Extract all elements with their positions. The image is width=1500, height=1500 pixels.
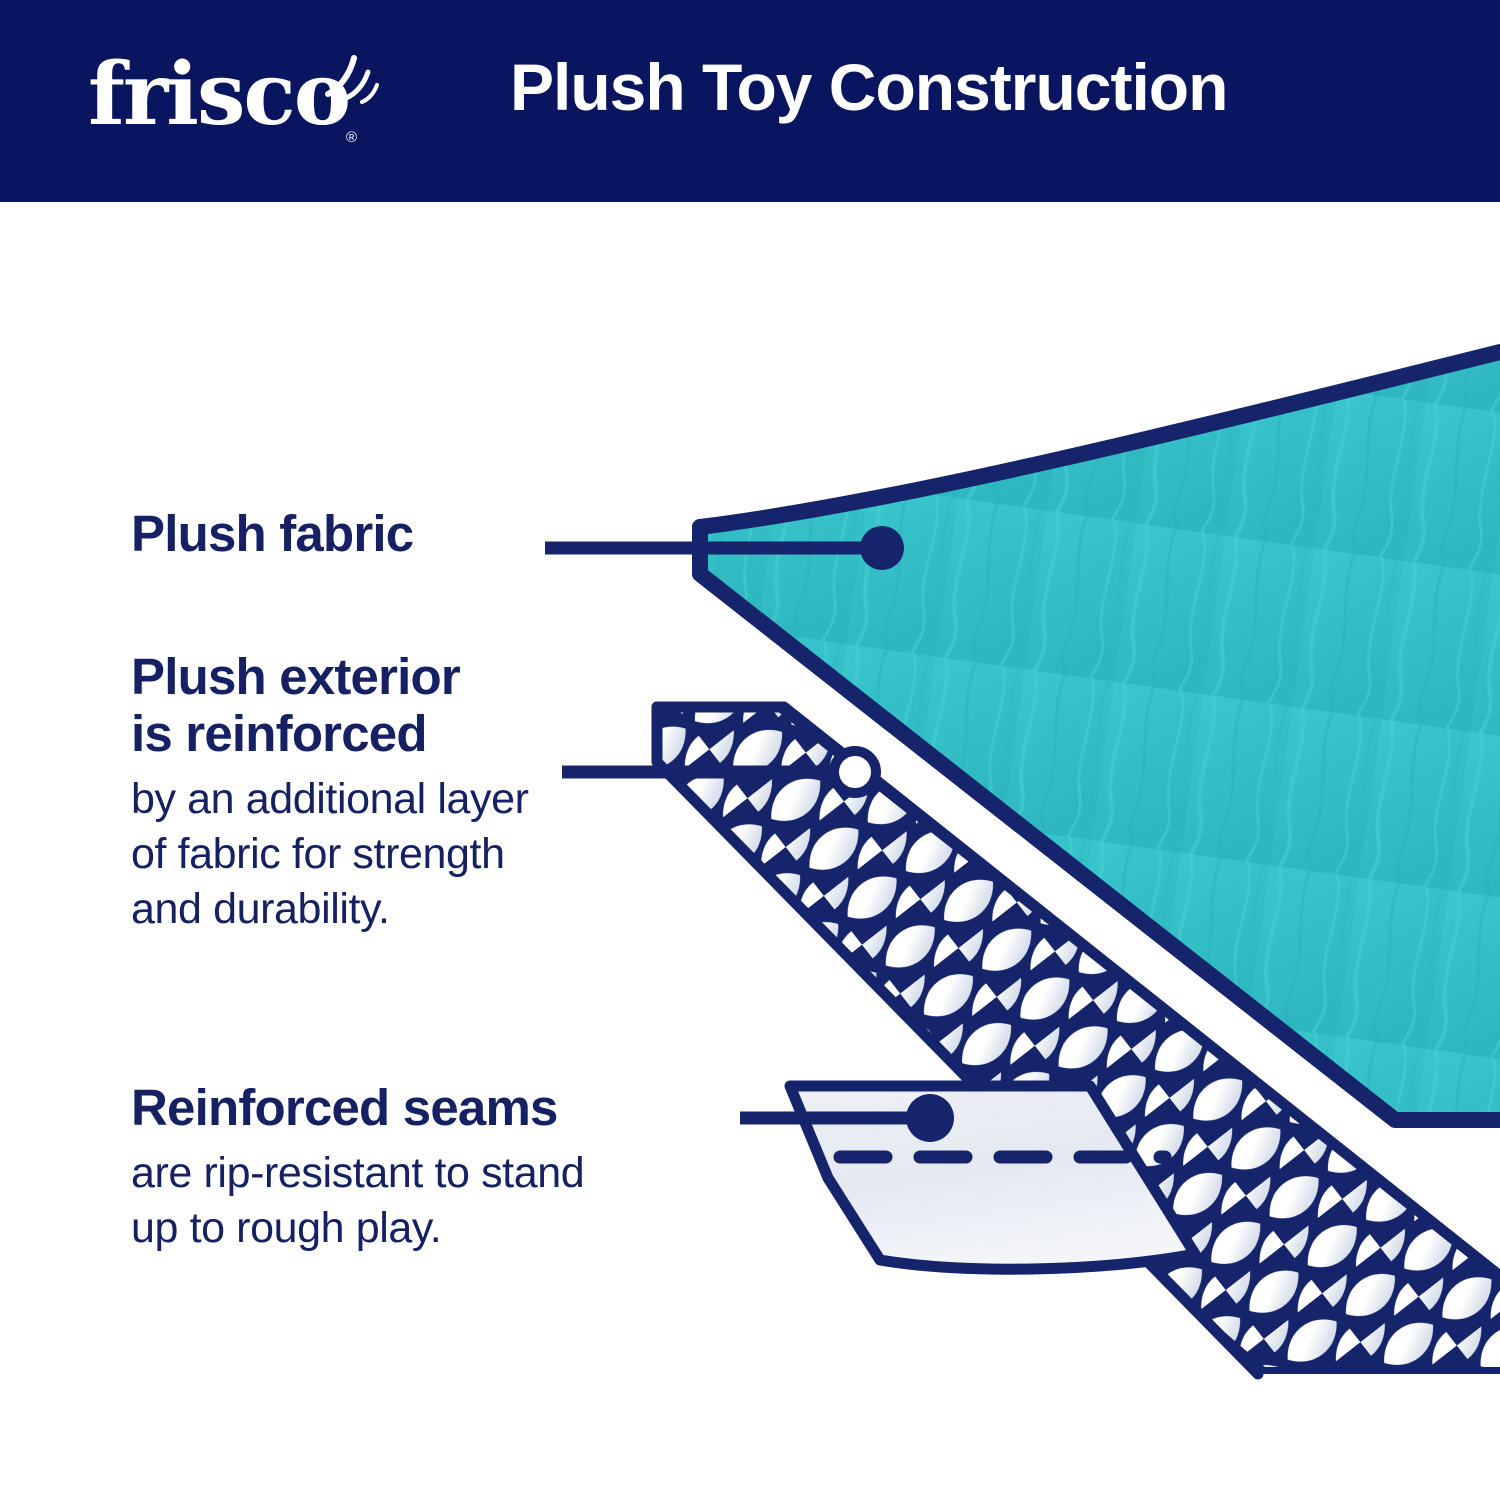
callout-heading: Plush exterior is reinforced — [131, 648, 731, 762]
frisco-logo: frisco ® — [88, 46, 388, 156]
brand-wordmark: frisco — [88, 52, 349, 138]
callout-heading: Reinforced seams — [131, 1079, 791, 1136]
callout-body: by an additional layer of fabric for str… — [131, 772, 731, 937]
leader-dot-hollow — [834, 751, 876, 793]
header-band: frisco ® Plush Toy Construction — [0, 0, 1500, 202]
callout-reinforced-seams: Reinforced seams are rip-resistant to st… — [131, 1079, 791, 1256]
leader-dot-filled — [860, 526, 904, 570]
registered-trademark-mark: ® — [346, 130, 357, 145]
callout-plush-fabric: Plush fabric — [131, 505, 561, 562]
callout-body: are rip-resistant to stand up to rough p… — [131, 1146, 791, 1256]
callout-plush-exterior: Plush exterior is reinforced by an addit… — [131, 648, 731, 937]
leader-dot-filled — [906, 1094, 954, 1142]
swoosh-icon — [324, 54, 384, 114]
page-title: Plush Toy Construction — [510, 50, 1410, 126]
callout-heading: Plush fabric — [131, 505, 561, 562]
infographic-page: frisco ® Plush Toy Construction — [0, 0, 1500, 1500]
